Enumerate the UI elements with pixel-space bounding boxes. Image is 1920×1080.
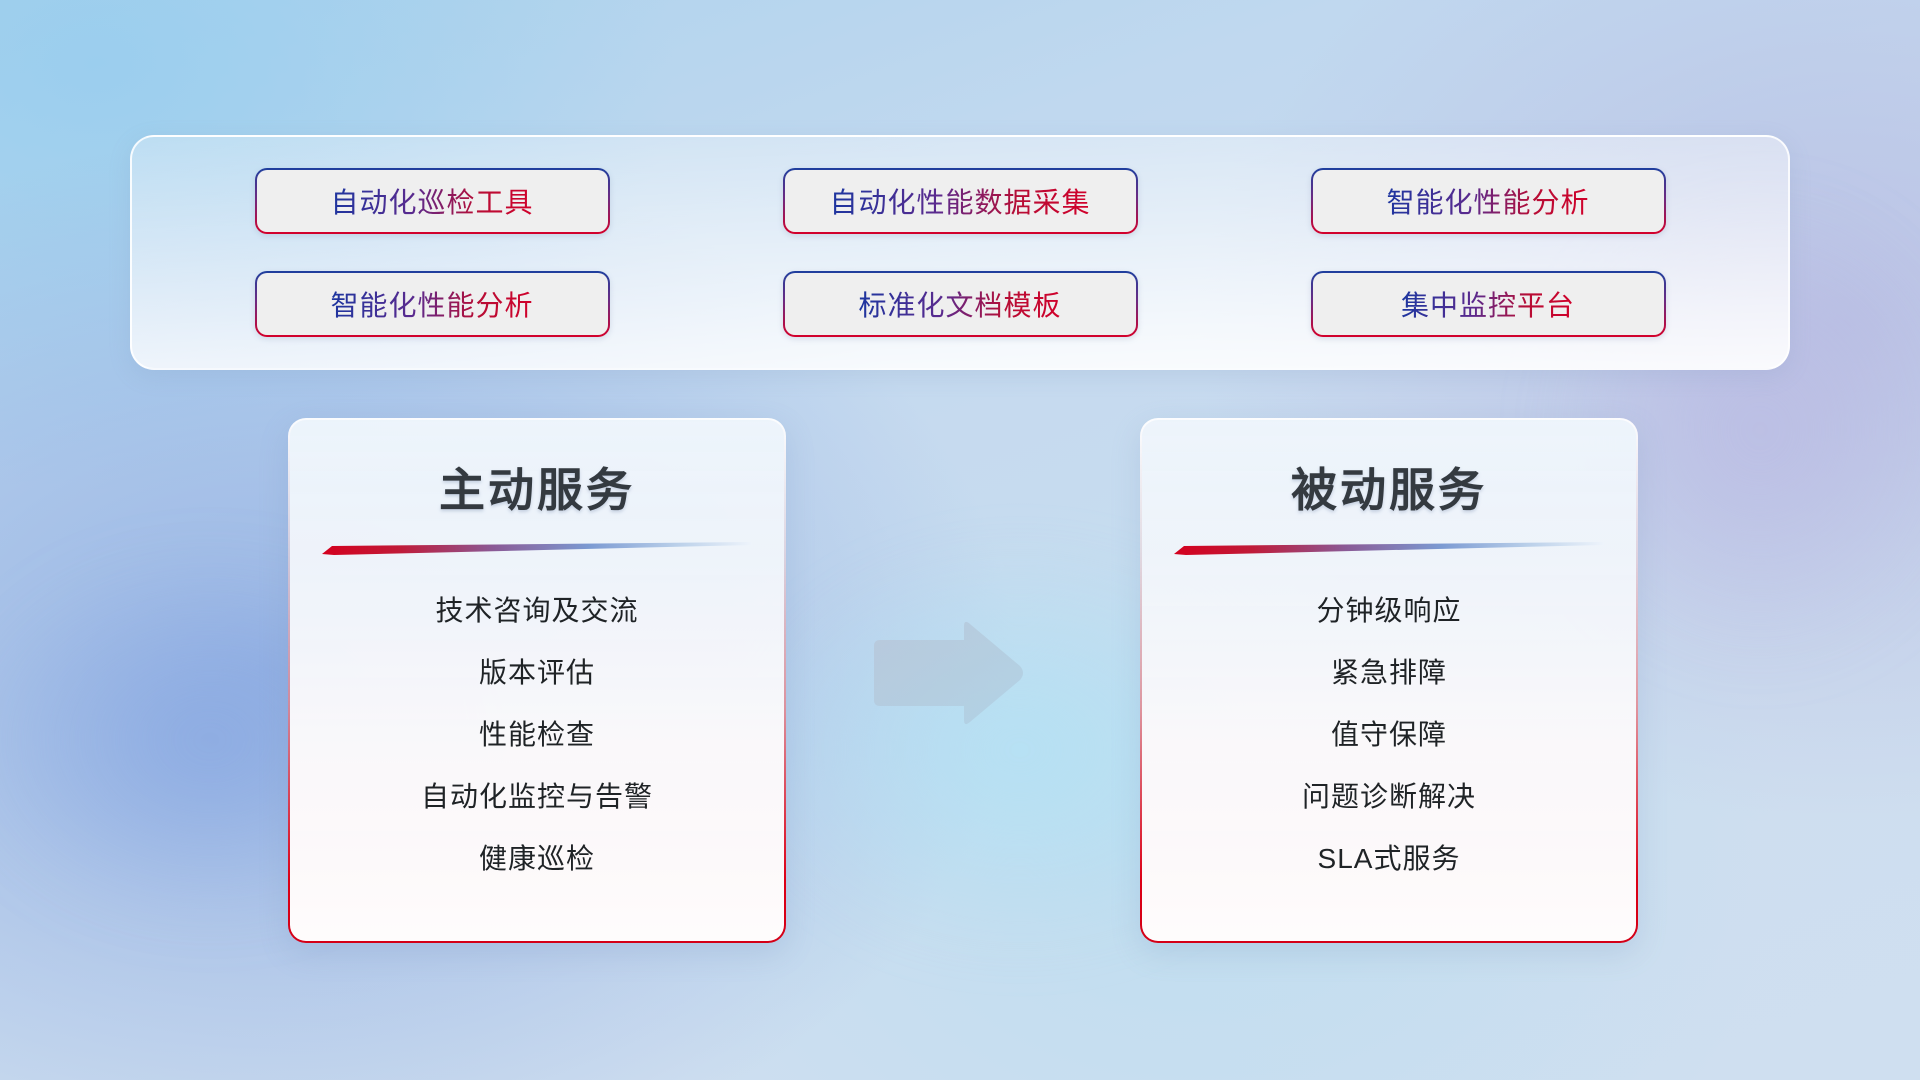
capability-pill-2-inner: 自动化性能数据采集: [785, 170, 1136, 232]
capability-pill-4-inner: 智能化性能分析: [257, 273, 608, 335]
capability-pill-2-label: 自动化性能数据采集: [829, 181, 1090, 221]
list-item: 技术咨询及交流: [435, 580, 638, 642]
list-item: SLA式服务: [1318, 828, 1461, 890]
list-item: 自动化监控与告警: [421, 766, 653, 828]
card-list-proactive: 技术咨询及交流 版本评估 性能检查 自动化监控与告警 健康巡检: [290, 580, 784, 890]
capability-pill-4-label: 智能化性能分析: [330, 284, 533, 324]
list-item: 分钟级响应: [1316, 580, 1461, 642]
list-item: 值守保障: [1331, 704, 1447, 766]
card-title-proactive: 主动服务: [439, 454, 635, 520]
capability-pill-2[interactable]: 自动化性能数据采集: [783, 168, 1138, 234]
capability-panel: 自动化巡检工具 自动化性能数据采集 智能化性能分析 智能化性能分析 标准化文档模…: [130, 135, 1790, 370]
list-item: 版本评估: [479, 642, 595, 704]
capability-pill-1[interactable]: 自动化巡检工具: [255, 168, 610, 234]
arrow-right-icon: [868, 618, 1028, 728]
capability-pill-4[interactable]: 智能化性能分析: [255, 271, 610, 337]
card-list-reactive: 分钟级响应 紧急排障 值守保障 问题诊断解决 SLA式服务: [1142, 580, 1636, 890]
list-item: 性能检查: [479, 704, 595, 766]
capability-pill-6-label: 集中监控平台: [1401, 284, 1575, 324]
service-card-reactive: 被动服务 分钟级响应 紧急排障 值守保障 问题诊断解决 SLA式服务: [1140, 418, 1638, 943]
capability-pill-5-inner: 标准化文档模板: [785, 273, 1136, 335]
capability-pill-1-label: 自动化巡检工具: [330, 181, 533, 221]
card-divider-proactive: [322, 542, 752, 556]
list-item: 问题诊断解决: [1302, 766, 1476, 828]
card-title-reactive: 被动服务: [1291, 454, 1487, 520]
capability-pill-3[interactable]: 智能化性能分析: [1311, 168, 1666, 234]
capability-pill-5-label: 标准化文档模板: [858, 284, 1061, 324]
capability-pill-1-inner: 自动化巡检工具: [257, 170, 608, 232]
capability-pill-5[interactable]: 标准化文档模板: [783, 271, 1138, 337]
capability-pill-3-inner: 智能化性能分析: [1313, 170, 1664, 232]
capability-pill-3-label: 智能化性能分析: [1386, 181, 1589, 221]
capability-pill-6[interactable]: 集中监控平台: [1311, 271, 1666, 337]
list-item: 紧急排障: [1331, 642, 1447, 704]
list-item: 健康巡检: [479, 828, 595, 890]
service-card-proactive: 主动服务 技术咨询及交流 版本评估 性能检查 自动化监控与告警 健康巡检: [288, 418, 786, 943]
capability-pill-6-inner: 集中监控平台: [1313, 273, 1664, 335]
card-divider-reactive: [1174, 542, 1604, 556]
